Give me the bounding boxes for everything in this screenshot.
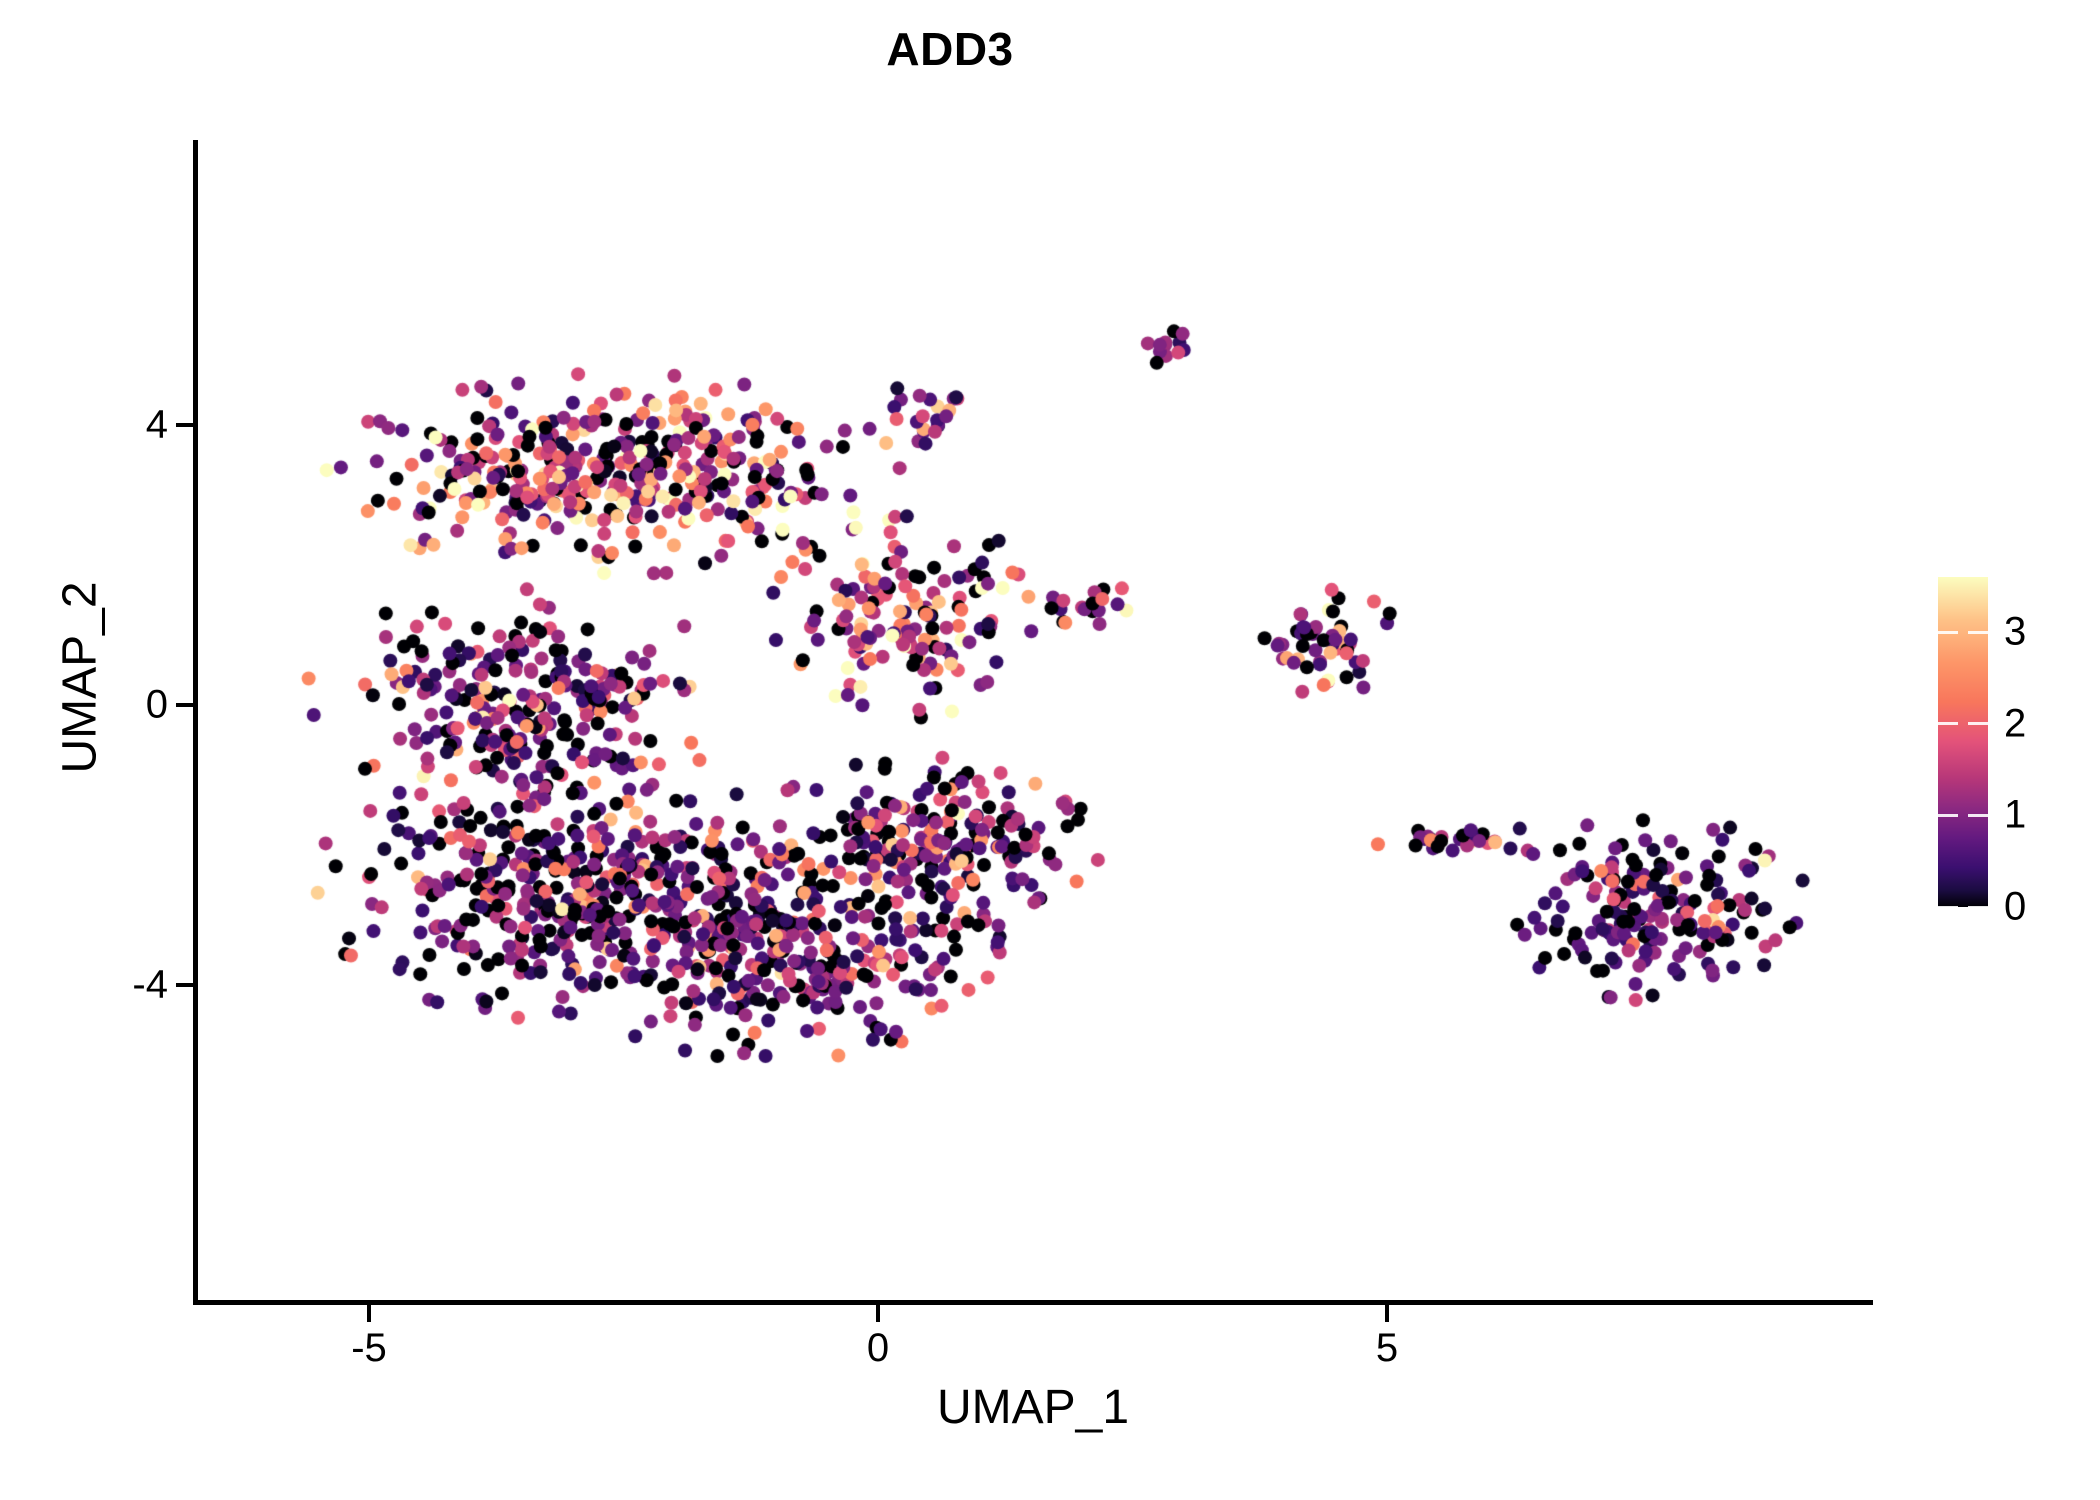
colorbar-legend: 3210 — [1938, 577, 1988, 907]
colorbar-tick-mark — [1938, 906, 1958, 909]
x-axis-line — [193, 1300, 1873, 1305]
page-title: ADD3 — [0, 22, 1900, 76]
y-tick-label: 4 — [146, 403, 168, 448]
y-tick-mark — [176, 983, 193, 987]
y-tick-mark — [176, 703, 193, 707]
x-axis-title: UMAP_1 — [193, 1380, 1873, 1435]
x-tick-mark — [1385, 1305, 1389, 1322]
colorbar-tick-label: 2 — [2004, 701, 2026, 746]
colorbar-tick-label: 1 — [2004, 793, 2026, 838]
scatter-points-canvas — [0, 0, 2100, 1500]
colorbar-gradient — [1938, 577, 1988, 907]
y-tick-label: 0 — [146, 683, 168, 728]
x-tick-label: 0 — [867, 1326, 889, 1371]
y-tick-label: -4 — [132, 963, 168, 1008]
colorbar-tick-label: 3 — [2004, 610, 2026, 655]
x-tick-mark — [367, 1305, 371, 1322]
x-tick-mark — [876, 1305, 880, 1322]
colorbar-tick-mark — [1968, 814, 1988, 817]
colorbar-tick-mark — [1968, 631, 1988, 634]
colorbar-tick-mark — [1938, 631, 1958, 634]
x-tick-label: -5 — [351, 1326, 387, 1371]
colorbar-tick-mark — [1968, 906, 1988, 909]
y-tick-mark — [176, 423, 193, 427]
x-tick-label: 5 — [1376, 1326, 1398, 1371]
y-axis-line — [193, 140, 198, 1305]
y-axis-title: UMAP_2 — [53, 478, 108, 878]
umap-feature-plot: ADD3 40-4-505 UMAP_1 UMAP_2 3210 — [0, 0, 2100, 1500]
colorbar-tick-label: 0 — [2004, 885, 2026, 930]
colorbar-tick-mark — [1938, 814, 1958, 817]
colorbar-tick-mark — [1938, 722, 1958, 725]
colorbar-tick-mark — [1968, 722, 1988, 725]
